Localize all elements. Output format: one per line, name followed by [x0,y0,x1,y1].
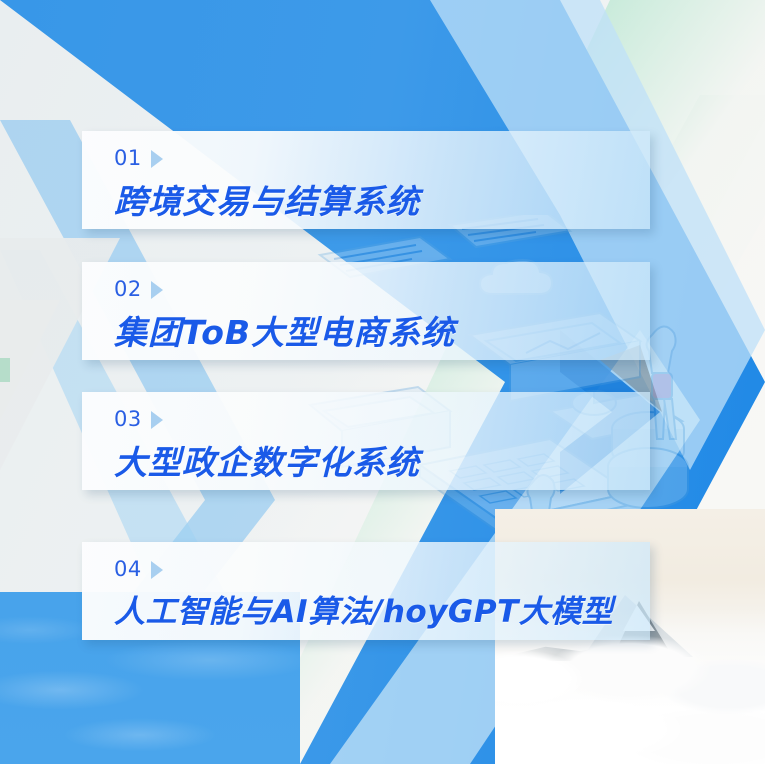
card-title-04: 人工智能与AI算法/hoyGPT大模型 [114,586,650,631]
list-item-04[interactable]: 04 人工智能与AI算法/hoyGPT大模型 [82,542,650,640]
card-number-01: 01 [114,148,142,169]
card-header-03: 03 [114,406,650,432]
list-item-03[interactable]: 03 大型政企数字化系统 [82,392,650,490]
card-title-03: 大型政企数字化系统 [114,436,650,484]
card-number-02: 02 [114,279,142,300]
list-item-02[interactable]: 02 集团ToB大型电商系统 [82,262,650,360]
list-item-01[interactable]: 01 跨境交易与结算系统 [82,131,650,229]
card-number-03: 03 [114,409,142,430]
chevron-right-icon [151,561,163,579]
card-header-01: 01 [114,145,650,171]
chevron-right-icon [151,411,163,429]
slide-canvas: 01 跨境交易与结算系统 02 集团ToB大型电商系统 03 大型政企数字化系统… [0,0,765,764]
card-title-02: 集团ToB大型电商系统 [114,306,650,354]
card-header-04: 04 [114,556,650,582]
card-header-02: 02 [114,276,650,302]
chevron-right-icon [151,150,163,168]
card-number-04: 04 [114,559,142,580]
card-title-01: 跨境交易与结算系统 [114,175,650,223]
chevron-right-icon [151,281,163,299]
